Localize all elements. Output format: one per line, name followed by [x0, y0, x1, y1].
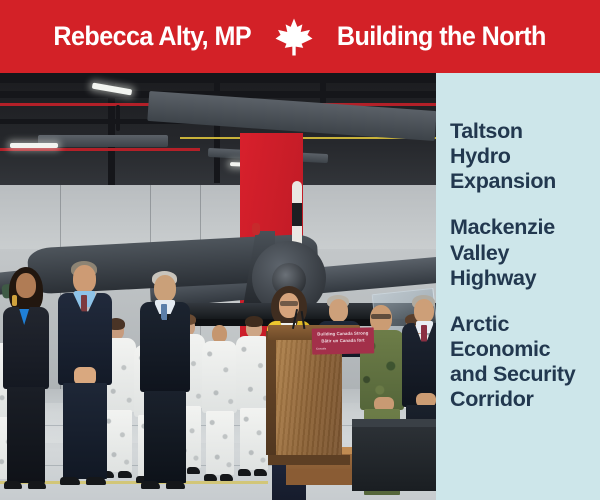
podium-base — [268, 455, 350, 465]
stage-black-panel-top — [352, 419, 436, 427]
figure-eyeglasses — [280, 301, 298, 306]
figure-legs — [63, 383, 107, 479]
sidebar-item-mackenzie-valley-highway[interactable]: Mackenzie Valley Highway — [450, 215, 588, 290]
event-photograph: Building Canada Strong Bâtir un Canada f… — [0, 73, 436, 500]
ceiling-light — [10, 143, 58, 148]
podium-wood-grain — [276, 339, 342, 461]
sidebar-item-arctic-economic-and-security-corridor[interactable]: Arctic Economic and Security Corridor — [450, 312, 588, 413]
figure-legs — [206, 411, 234, 475]
figure-eyeglasses — [371, 314, 391, 319]
podium-sign-wordmark: Canada — [316, 347, 370, 352]
maple-leaf-icon — [273, 16, 315, 58]
figure-legs — [240, 408, 268, 470]
figure-head — [414, 299, 434, 323]
figure-shoe — [254, 469, 267, 476]
sidebar-item-taltson-hydro-expansion[interactable]: Taltson Hydro Expansion — [450, 119, 588, 194]
figure-hair — [245, 316, 263, 327]
figure-head — [154, 275, 176, 302]
figure-head — [73, 265, 96, 293]
figure-torso — [202, 341, 237, 413]
figure-jacket — [3, 307, 49, 389]
banner-left-title: Rebecca Alty, MP — [54, 23, 252, 50]
stage-black-panel — [352, 423, 436, 491]
podium-sign: Building Canada Strong Bâtir un Canada f… — [312, 327, 375, 354]
ceiling-hanger — [116, 105, 120, 131]
figure-shoe — [187, 467, 200, 474]
podium-sign-line2: Bâtir un Canada fort — [316, 337, 370, 345]
aircraft-tip-light — [252, 223, 260, 235]
figure-shoe — [60, 477, 80, 485]
figure-shoe — [238, 469, 251, 476]
figure-head — [329, 299, 348, 322]
figure-legs — [7, 387, 45, 483]
header-banner: Rebecca Alty, MP Building the North — [0, 0, 600, 73]
figure-shoe — [4, 481, 22, 489]
figure-shoe — [220, 474, 233, 481]
podium-front — [276, 339, 342, 461]
figure-shoe — [118, 471, 132, 478]
ceiling-column — [214, 73, 220, 183]
banner-right-title: Building the North — [337, 23, 546, 50]
figure-shoe — [141, 481, 160, 489]
figure-legs — [144, 391, 186, 483]
initiatives-sidebar: Taltson Hydro Expansion Mackenzie Valley… — [436, 73, 600, 500]
figure-earring — [12, 295, 17, 306]
poster-card: Rebecca Alty, MP Building the North — [0, 0, 600, 500]
figure-shoe — [86, 477, 106, 485]
figure-shoe — [166, 481, 185, 489]
figure-shoe — [204, 474, 217, 481]
figure-shoe — [28, 481, 46, 489]
figure-head — [16, 273, 36, 298]
ceiling-red-pipe — [0, 148, 200, 151]
